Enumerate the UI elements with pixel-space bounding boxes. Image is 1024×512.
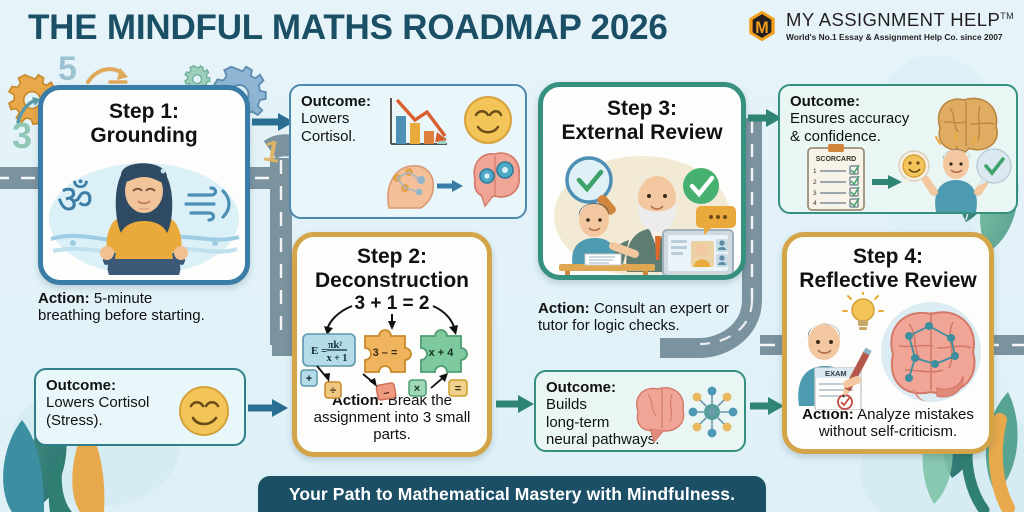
svg-text:x + 1: x + 1	[327, 353, 348, 364]
step-2-title: Step 2: Deconstruction	[309, 245, 475, 292]
scorecard-row-1: 1	[813, 168, 817, 175]
check-bubble-icon	[977, 149, 1011, 186]
outcome-box-2-text: Outcome: Lowers Cortisol (Stress).	[36, 370, 157, 435]
step-4-title: Step 4: Reflective Review	[793, 245, 982, 292]
decor-number-3: 3	[12, 115, 32, 156]
brand-logo: M MY ASSIGNMENT HELPTM World's No.1 Essa…	[745, 9, 1014, 43]
outcome-4-illustration	[630, 380, 742, 446]
svg-text:+: +	[306, 373, 312, 385]
scorecard-row-3: 3	[813, 190, 817, 197]
scorecard-clipboard-icon: SCORCARD 1 2 3 4	[808, 144, 864, 210]
step-2-equation: 3 + 1 = 2	[354, 293, 429, 314]
page-title: THE MINDFUL MATHS ROADMAP 2026	[28, 8, 668, 48]
step-1-action-text: Action: 5-minute breathing before starti…	[38, 290, 218, 325]
operator-chips: + ÷ – × =	[301, 366, 467, 400]
step-4-illustration: EXAM	[787, 292, 989, 406]
outcome-box-4: Outcome: Builds long-term neural pathway…	[534, 370, 746, 452]
scorecard-row-4: 4	[813, 200, 817, 207]
step-2-card[interactable]: Step 2: Deconstruction 3 + 1 = 2 E = πk²	[292, 232, 492, 457]
puzzle-piece-green: x + 4	[421, 330, 467, 372]
logo-tagline: World's No.1 Essay & Assignment Help Co.…	[786, 33, 1014, 41]
student-exam-figure: EXAM	[798, 324, 872, 410]
decor-number-5: 5	[58, 50, 77, 88]
declining-chart-icon	[391, 98, 447, 144]
step-4-action-text: Action: Analyze mistakes without self-cr…	[787, 406, 989, 449]
check-badge-icon	[683, 168, 719, 204]
logo-brand-name: MY ASSIGNMENT HELPTM	[786, 11, 1014, 30]
logo-hexagon-mark: M	[745, 9, 779, 43]
svg-text:÷: ÷	[330, 385, 336, 397]
outcome-box-3: Outcome: Ensures accuracy & confidence.	[778, 84, 1018, 214]
scorecard-row-2: 2	[813, 179, 817, 186]
outcome-box-2: Outcome: Lowers Cortisol (Stress).	[34, 368, 246, 446]
step-3-action-text: Action: Consult an expert or tutor for l…	[538, 300, 734, 335]
om-symbol: ॐ	[57, 177, 93, 223]
puzzle-piece-orange: 3 – =	[365, 330, 411, 372]
brain-gears-icon	[474, 153, 519, 206]
calm-face-icon	[465, 97, 511, 143]
formula-box: E = πk² x + 1	[303, 334, 355, 366]
brain-icon	[939, 98, 998, 156]
brain-network-icon	[881, 302, 981, 402]
outcome-box-1-text: Outcome: Lowers Cortisol.	[291, 86, 379, 151]
calm-face-icon-2	[178, 385, 230, 437]
logo-letter: M	[755, 19, 768, 37]
step-2-illustration: 3 + 1 = 2 E = πk² x + 1	[297, 292, 487, 392]
scorecard-title: SCORCARD	[816, 156, 856, 163]
step-4-card[interactable]: Step 4: Reflective Review	[782, 232, 994, 454]
step-1-illustration: ॐ	[43, 147, 245, 280]
infographic-canvas: 5 3 1 THE MINDFUL MATHS ROADMAP 2026 M M…	[0, 0, 1024, 512]
brain-side-icon	[637, 388, 684, 442]
svg-text:πk²: πk²	[328, 340, 342, 351]
svg-text:=: =	[455, 383, 461, 395]
step-3-card[interactable]: Step 3: External Review	[538, 82, 746, 280]
step-1-card[interactable]: Step 1: Grounding ॐ	[38, 85, 250, 285]
step-1-title: Step 1: Grounding	[84, 100, 203, 147]
footer-banner: Your Path to Mathematical Mastery with M…	[258, 476, 766, 512]
outcome-box-1: Outcome: Lowers Cortisol.	[289, 84, 527, 219]
puzzle-left-label: 3 – =	[373, 347, 398, 359]
exam-label: EXAM	[825, 369, 847, 378]
head-molecule-icon	[388, 166, 433, 208]
puzzle-right-label: x + 4	[429, 347, 455, 359]
lightbulb-icon	[843, 292, 883, 330]
svg-text:×: ×	[414, 383, 420, 395]
step-3-illustration	[543, 144, 741, 275]
svg-text:E =: E =	[311, 345, 327, 357]
step-3-title: Step 3: External Review	[555, 97, 728, 144]
neural-network-icon	[689, 387, 738, 438]
logo-trademark: TM	[1000, 11, 1014, 21]
outcome-1-illustration	[377, 90, 525, 216]
outcome-3-illustration: SCORCARD 1 2 3 4	[780, 86, 1016, 212]
